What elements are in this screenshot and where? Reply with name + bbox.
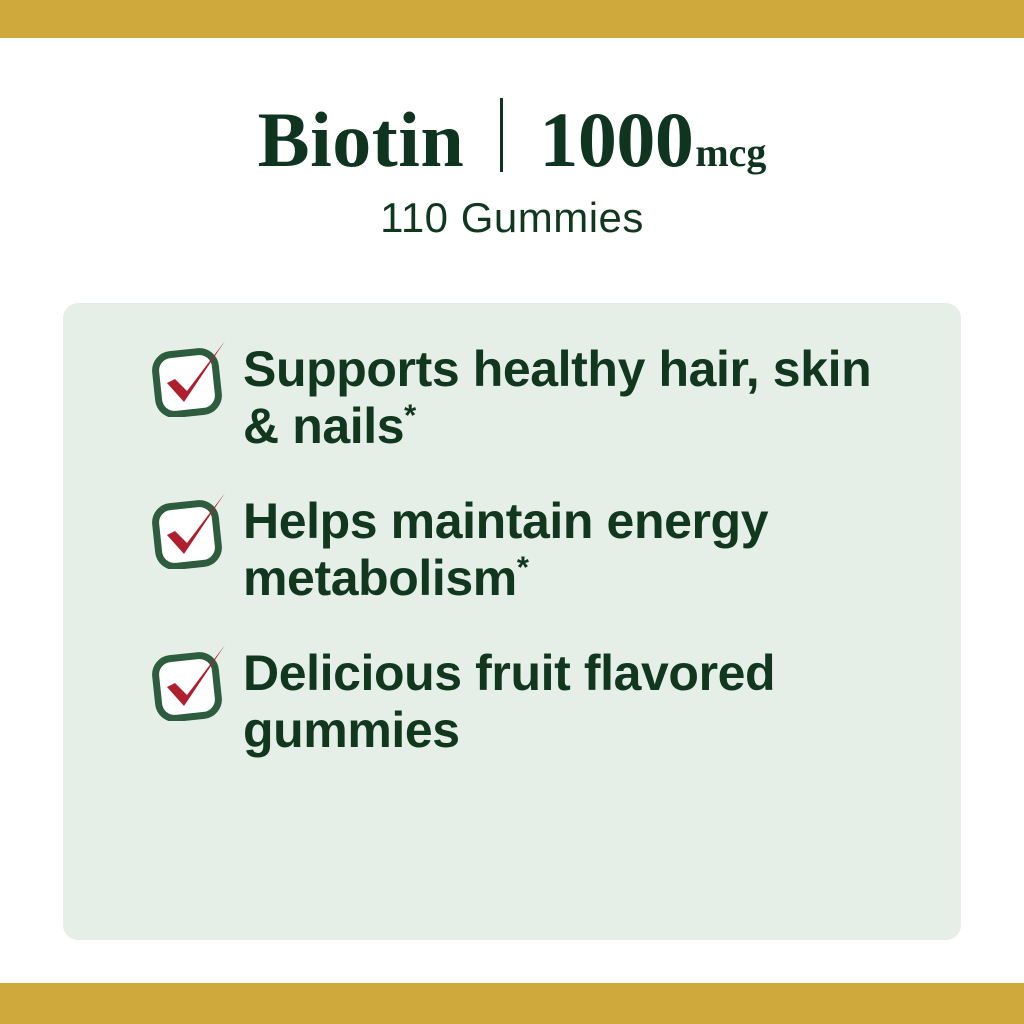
check-square-icon — [145, 491, 229, 569]
gummy-count: 110 Gummies — [0, 197, 1024, 239]
product-heading: Biotin 1000 mcg 110 Gummies — [0, 92, 1024, 239]
product-name: Biotin — [258, 101, 465, 179]
benefit-text: Supports healthy hair, skin & nails* — [243, 335, 903, 455]
benefit-text: Delicious fruit flavored gummies — [243, 639, 903, 759]
product-benefits-graphic: Biotin 1000 mcg 110 Gummies Supports hea… — [0, 0, 1024, 1024]
benefits-panel: Supports healthy hair, skin & nails* Hel… — [63, 303, 961, 940]
benefit-item: Delicious fruit flavored gummies — [145, 639, 925, 759]
check-square-icon — [145, 339, 229, 417]
title-row: Biotin 1000 mcg — [0, 92, 1024, 179]
benefit-label: Supports healthy hair, skin & nails — [243, 341, 871, 454]
benefit-label: Helps maintain energy metabolism — [243, 493, 768, 606]
dose-amount: 1000 — [539, 101, 693, 179]
check-square-icon — [145, 643, 229, 721]
benefit-label: Delicious fruit flavored gummies — [243, 645, 775, 758]
title-divider — [500, 98, 503, 172]
benefit-asterisk: * — [517, 549, 529, 584]
benefit-text: Helps maintain energy metabolism* — [243, 487, 903, 607]
benefits-list: Supports healthy hair, skin & nails* Hel… — [63, 303, 961, 940]
bottom-gold-rule — [0, 983, 1024, 1024]
benefit-asterisk: * — [404, 397, 416, 432]
dose-unit: mcg — [695, 133, 766, 173]
benefit-item: Supports healthy hair, skin & nails* — [145, 335, 925, 455]
top-gold-rule — [0, 0, 1024, 38]
benefit-item: Helps maintain energy metabolism* — [145, 487, 925, 607]
